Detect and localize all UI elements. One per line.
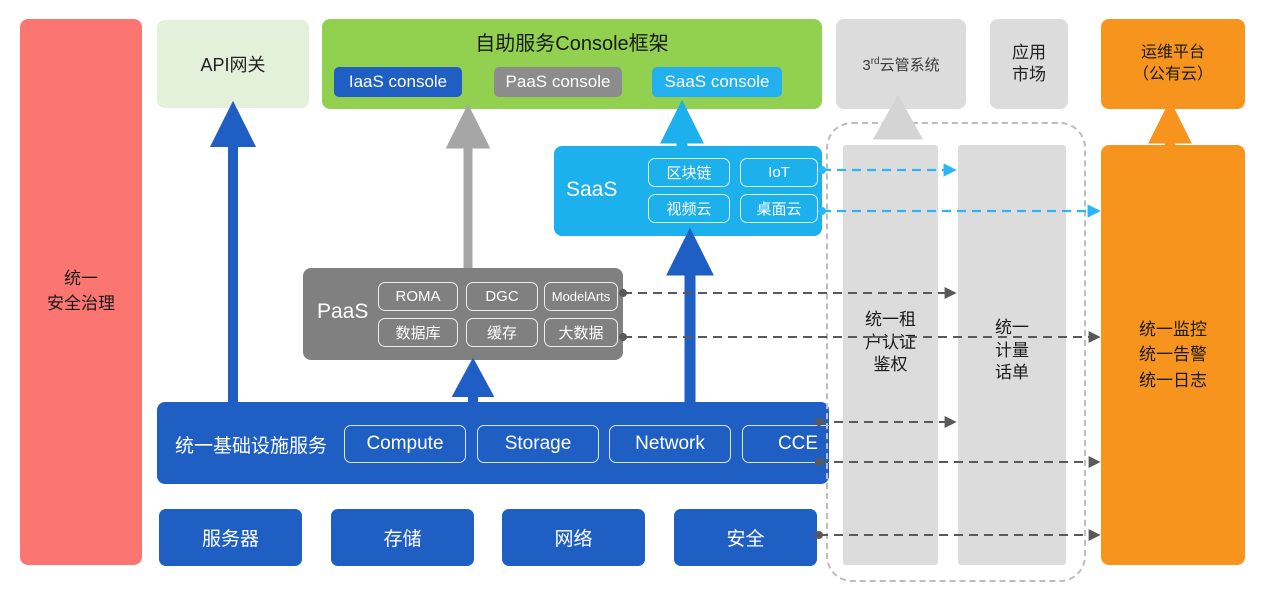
ops-panel-label: 统一监控统一告警统一日志 — [1139, 317, 1207, 394]
console-framework-title: 自助服务Console框架 — [322, 27, 822, 56]
paas-item-big-data[interactable]: 大数据 — [544, 318, 618, 347]
resource-box-storage: 存储 — [331, 509, 474, 566]
saas-item-video-cloud[interactable]: 视频云 — [648, 194, 730, 223]
diagram-canvas: 统一安全治理 API网关 自助服务Console框架 IaaS console … — [0, 0, 1265, 605]
governance-label: 统一安全治理 — [47, 267, 115, 316]
resource-box-security: 安全 — [674, 509, 817, 566]
infra-item-storage[interactable]: Storage — [477, 425, 599, 463]
box-ops-platform-public-cloud: 运维平台（公有云） — [1101, 19, 1245, 109]
layer-unified-infrastructure-service: 统一基础设施服务 Compute Storage Network CCE — [157, 402, 829, 484]
paas-layer-label: PaaS — [317, 300, 368, 324]
app-market-label: 应用市场 — [1012, 42, 1046, 86]
saas-item-blockchain[interactable]: 区块链 — [648, 158, 730, 187]
column-unified-tenant-auth: 统一租户认证鉴权 — [843, 145, 938, 565]
saas-item-iot[interactable]: IoT — [740, 158, 818, 187]
chip-iaas-console[interactable]: IaaS console — [334, 67, 462, 97]
paas-item-modelarts[interactable]: ModelArts — [544, 282, 618, 311]
paas-item-roma[interactable]: ROMA — [378, 282, 458, 311]
paas-item-dgc[interactable]: DGC — [466, 282, 538, 311]
arrow-infra-to-api-gateway — [218, 112, 248, 402]
arrow-ops-panel-to-ops-platform — [1157, 112, 1183, 145]
unified-tenant-auth-label: 统一租户认证鉴权 — [865, 309, 916, 378]
panel-console-framework: 自助服务Console框架 IaaS console PaaS console … — [322, 19, 822, 109]
layer-paas: PaaS ROMA DGC ModelArts 数据库 缓存 大数据 — [303, 268, 623, 360]
resource-box-server: 服务器 — [159, 509, 302, 566]
box-api-gateway: API网关 — [157, 20, 309, 108]
api-gateway-label: API网关 — [200, 51, 265, 77]
saas-layer-label: SaaS — [566, 178, 617, 202]
panel-unified-monitoring-alarm-log: 统一监控统一告警统一日志 — [1101, 145, 1245, 565]
layer-saas: SaaS 区块链 IoT 视频云 桌面云 — [554, 146, 822, 236]
unified-metering-label: 统一计量话单 — [995, 317, 1029, 386]
arrow-infra-to-paas — [460, 368, 486, 402]
arrow-infra-to-saas — [675, 240, 705, 402]
ops-platform-label: 运维平台（公有云） — [1133, 42, 1213, 85]
column-unified-metering-billing: 统一计量话单 — [958, 145, 1066, 565]
paas-item-database[interactable]: 数据库 — [378, 318, 458, 347]
resource-box-network: 网络 — [502, 509, 645, 566]
box-third-party-cloud-management: 3rd云管系统 — [836, 19, 966, 109]
infra-layer-label: 统一基础设施服务 — [175, 431, 327, 458]
chip-saas-console[interactable]: SaaS console — [652, 67, 782, 97]
box-app-market: 应用市场 — [990, 19, 1068, 109]
saas-item-desktop-cloud[interactable]: 桌面云 — [740, 194, 818, 223]
arrow-paas-to-console — [453, 114, 483, 268]
chip-paas-console[interactable]: PaaS console — [494, 67, 622, 97]
infra-item-network[interactable]: Network — [609, 425, 731, 463]
third-cloud-label: 3rd云管系统 — [862, 54, 939, 75]
panel-unified-security-governance: 统一安全治理 — [20, 19, 142, 565]
arrow-saas-to-saas-console — [669, 112, 695, 146]
infra-item-compute[interactable]: Compute — [344, 425, 466, 463]
paas-item-cache[interactable]: 缓存 — [466, 318, 538, 347]
